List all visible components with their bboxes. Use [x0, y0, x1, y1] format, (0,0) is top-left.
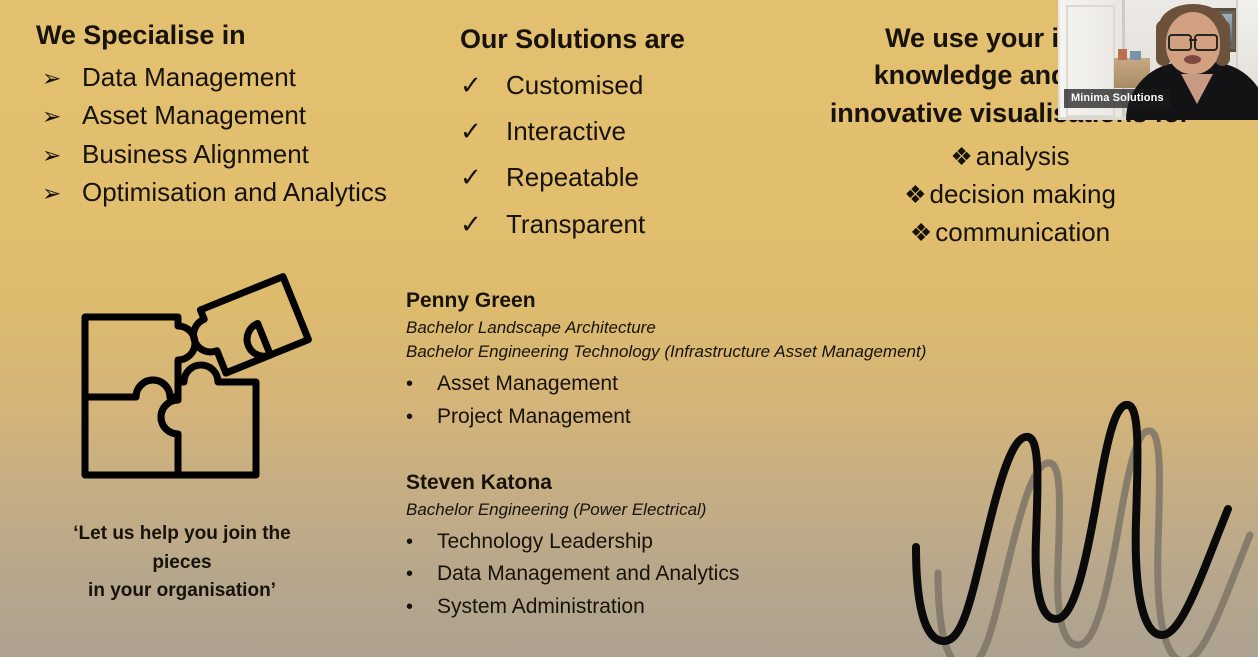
- list-item-label: Project Management: [437, 401, 631, 433]
- list-item-label: communication: [935, 214, 1110, 252]
- column-our-solutions-are: Our Solutions are ✓ Customised ✓ Interac…: [460, 24, 760, 247]
- column-heading-specialise: We Specialise in: [36, 20, 456, 52]
- arrow-bullet-icon: ➢: [36, 138, 82, 172]
- dot-bullet-icon: •: [406, 527, 437, 558]
- list-item: ✓ Repeatable: [460, 154, 760, 200]
- solutions-list: ✓ Customised ✓ Interactive ✓ Repeatable …: [460, 62, 760, 247]
- webcam-person-vneck: [1181, 74, 1213, 104]
- list-item: ➢ Data Management: [36, 58, 456, 96]
- list-item-label: Asset Management: [437, 368, 618, 400]
- diamond-bullet-icon: ❖: [904, 177, 929, 214]
- tagline: ‘Let us help you join the pieces in your…: [36, 520, 328, 606]
- list-item: ✓ Interactive: [460, 108, 760, 154]
- tagline-line-1: ‘Let us help you join the: [36, 520, 328, 549]
- webcam-video-tile[interactable]: Minima Solutions: [1058, 0, 1258, 120]
- list-item: • Data Management and Analytics: [406, 558, 739, 590]
- person-profile-penny-green: Penny Green Bachelor Landscape Architect…: [406, 288, 926, 433]
- list-item-label: System Administration: [437, 591, 645, 623]
- arrow-bullet-icon: ➢: [36, 99, 82, 133]
- person-qualification: Bachelor Landscape Architecture: [406, 316, 926, 340]
- person-profile-steven-katona: Steven Katona Bachelor Engineering (Powe…: [406, 470, 739, 623]
- puzzle-pieces-icon: [78, 262, 318, 487]
- list-item: ➢ Optimisation and Analytics: [36, 173, 456, 211]
- diamond-bullet-icon: ❖: [950, 139, 975, 176]
- tagline-line-2: pieces: [36, 549, 328, 578]
- check-bullet-icon: ✓: [460, 154, 506, 200]
- webcam-participant-label: Minima Solutions: [1064, 89, 1171, 108]
- list-item-label: Customised: [506, 62, 643, 108]
- list-item-label: Transparent: [506, 201, 645, 247]
- list-item: • Asset Management: [406, 368, 926, 400]
- list-item: ❖ decision making: [762, 176, 1258, 214]
- list-item: ❖ analysis: [762, 138, 1258, 176]
- list-item-label: Asset Management: [82, 96, 306, 134]
- check-bullet-icon: ✓: [460, 201, 506, 247]
- diamond-bullet-icon: ❖: [910, 215, 935, 252]
- check-bullet-icon: ✓: [460, 62, 506, 108]
- list-item: ➢ Business Alignment: [36, 135, 456, 173]
- list-item: • Project Management: [406, 401, 926, 433]
- list-item: • System Administration: [406, 591, 739, 623]
- person-qualification: Bachelor Engineering (Power Electrical): [406, 498, 739, 522]
- specialise-list: ➢ Data Management ➢ Asset Management ➢ B…: [36, 58, 456, 212]
- webcam-person-mouth: [1184, 55, 1201, 64]
- arrow-bullet-icon: ➢: [36, 176, 82, 210]
- presentation-slide: We Specialise in ➢ Data Management ➢ Ass…: [0, 0, 1258, 657]
- list-item-label: Data Management and Analytics: [437, 558, 739, 590]
- dot-bullet-icon: •: [406, 402, 437, 433]
- list-item: ✓ Customised: [460, 62, 760, 108]
- column-we-specialise-in: We Specialise in ➢ Data Management ➢ Ass…: [36, 20, 456, 212]
- list-item-label: Data Management: [82, 58, 296, 96]
- column-heading-solutions: Our Solutions are: [460, 24, 760, 56]
- list-item-label: Interactive: [506, 108, 626, 154]
- dot-bullet-icon: •: [406, 369, 437, 400]
- dot-bullet-icon: •: [406, 592, 437, 623]
- person-qualification: Bachelor Engineering Technology (Infrast…: [406, 340, 926, 364]
- tagline-line-3: in your organisation’: [36, 577, 328, 606]
- list-item-label: decision making: [929, 176, 1115, 214]
- list-item: ✓ Transparent: [460, 201, 760, 247]
- use-information-list: ❖ analysis ❖ decision making ❖ communica…: [762, 138, 1258, 252]
- list-item: ❖ communication: [762, 214, 1258, 252]
- person-name: Steven Katona: [406, 470, 739, 495]
- list-item-label: Optimisation and Analytics: [82, 173, 387, 211]
- list-item: • Technology Leadership: [406, 526, 739, 558]
- glasses-icon: [1168, 34, 1218, 47]
- person-skills-list: • Asset Management • Project Management: [406, 368, 926, 432]
- list-item-label: Repeatable: [506, 154, 639, 200]
- dot-bullet-icon: •: [406, 559, 437, 590]
- person-name: Penny Green: [406, 288, 926, 313]
- person-skills-list: • Technology Leadership • Data Managemen…: [406, 526, 739, 622]
- list-item-label: Business Alignment: [82, 135, 309, 173]
- squiggle-scribble-icon: [910, 397, 1258, 657]
- list-item-label: Technology Leadership: [437, 526, 653, 558]
- list-item: ➢ Asset Management: [36, 96, 456, 134]
- arrow-bullet-icon: ➢: [36, 61, 82, 95]
- check-bullet-icon: ✓: [460, 108, 506, 154]
- list-item-label: analysis: [976, 138, 1070, 176]
